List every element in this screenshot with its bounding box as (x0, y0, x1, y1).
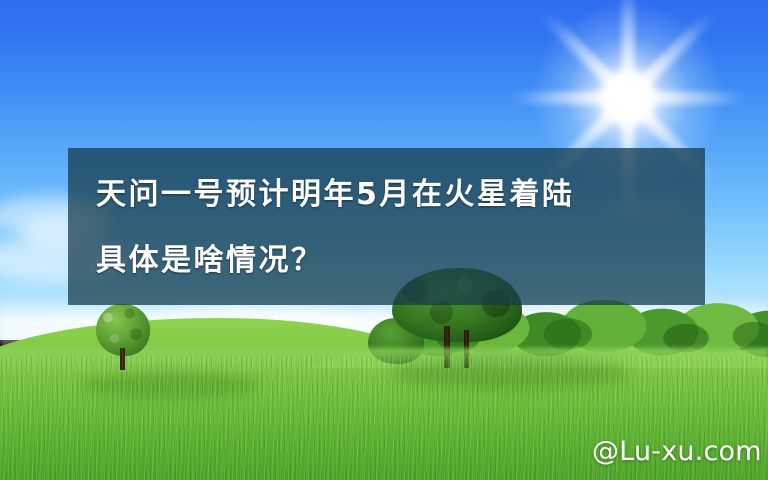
lone-tree-trunk (120, 348, 125, 370)
lone-tree-left (96, 304, 150, 368)
headline-banner: 天问一号预计明年5月在火星着陆 具体是啥情况？ (68, 148, 705, 305)
site-watermark: @Lu-xu.com (592, 436, 762, 467)
headline-line-2: 具体是啥情况？ (96, 228, 681, 294)
headline-line-1: 天问一号预计明年5月在火星着陆 (96, 162, 681, 228)
sun-core (602, 72, 654, 124)
screenshot-root: 天问一号预计明年5月在火星着陆 具体是啥情况？ @Lu-xu.com (0, 0, 768, 480)
